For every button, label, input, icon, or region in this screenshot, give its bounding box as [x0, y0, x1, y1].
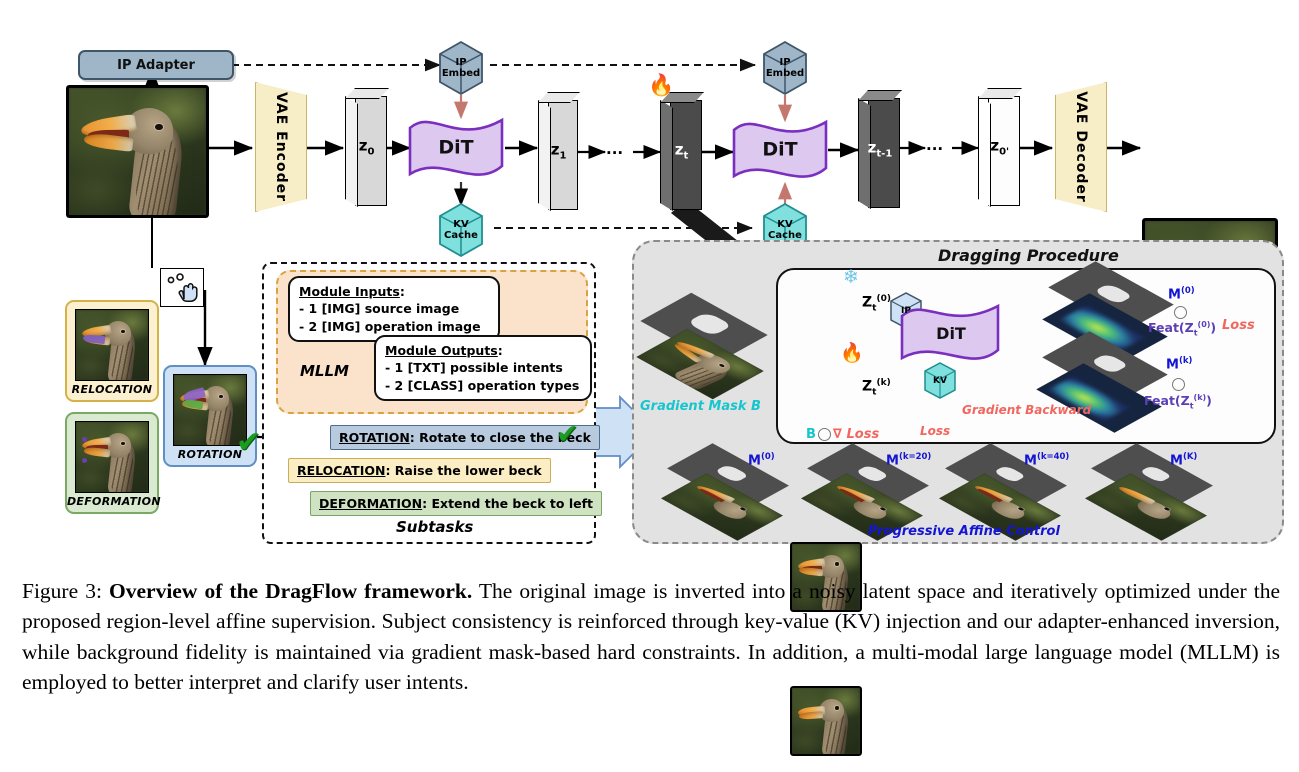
loss-legend: B∇ Loss: [806, 427, 879, 442]
variant-label-relocation: RELOCATION: [67, 383, 157, 396]
subtask-deformation-text: : Extend the beck to left: [422, 496, 593, 511]
subtask-relocation-key: RELOCATION: [297, 463, 385, 478]
module-outputs-box: Module Outputs: - 1 [TXT] possible inten…: [374, 335, 592, 401]
kv-cache-label-1: KVCache: [432, 219, 490, 241]
check-icon-rotation-card: ✔: [236, 428, 261, 458]
loss-label: Loss: [1222, 318, 1255, 333]
ip-embed-label-2: IPEmbed: [756, 57, 814, 79]
dit-block-2: DiT: [728, 114, 832, 186]
legend-circ-operator: [818, 428, 831, 441]
figure-caption: Figure 3: Overview of the DragFlow frame…: [22, 576, 1280, 697]
subtask-deformation[interactable]: DEFORMATION: Extend the beck to left: [310, 491, 602, 516]
feat-label-top: Feat(Zt(0)): [1148, 320, 1216, 338]
ip-embed-cube-2: IPEmbed: [756, 38, 814, 96]
latent-slab-z0: z0: [345, 88, 387, 206]
ip-adapter-box: IP Adapter: [78, 50, 234, 80]
loss-legend-grad: ∇ Loss: [833, 427, 879, 442]
flame-icon-optimized: 🔥: [840, 344, 864, 363]
module-inputs-box: Module Inputs: - 1 [IMG] source image - …: [288, 276, 500, 342]
module-inputs-title: Module Inputs:: [299, 283, 489, 300]
subtasks-label: Subtasks: [396, 518, 473, 536]
variant-card-deformation[interactable]: DEFORMATION: [65, 412, 159, 514]
timeline-stack-3: [1096, 452, 1226, 536]
ztk-label: Zt(k): [862, 378, 891, 397]
latent-slab-z0prime: z0': [978, 88, 1020, 206]
ip-adapter-label: IP Adapter: [117, 58, 195, 73]
latent-label-z0: z0: [359, 137, 375, 158]
ellipsis-1: ...: [606, 140, 623, 158]
timeline-label-1: M(k=20): [886, 452, 931, 468]
gradient-backward-label: Gradient Backward: [962, 403, 1091, 417]
dit-label-2: DiT: [728, 139, 832, 161]
kv-cube-dragging: KV: [920, 360, 960, 400]
mllm-name-label: MLLM: [300, 362, 349, 380]
mask-label-bottom: M(k): [1166, 356, 1192, 372]
loss-legend-b: B: [806, 427, 816, 442]
flame-icon-trainable: 🔥: [648, 75, 674, 96]
source-image: [66, 85, 209, 218]
timeline-label-0: M(0): [748, 452, 775, 468]
timeline-label-2: M(k=40): [1024, 452, 1069, 468]
latent-slab-zt-1: zt-1: [858, 90, 900, 208]
vae-encoder-label: VAE Encoder: [273, 92, 289, 202]
kv-cache-cube-1: KVCache: [432, 200, 490, 258]
mask-label-top: M(0): [1168, 286, 1195, 302]
subtask-deformation-key: DEFORMATION: [319, 496, 422, 511]
kv-cache-label-2: KVCache: [756, 219, 814, 241]
ip-embed-cube-1: IPEmbed: [432, 38, 490, 96]
kv-cube-label: KV: [920, 376, 960, 386]
gradient-mask-stack: [648, 300, 778, 396]
vae-decoder-label: VAE Decoder: [1073, 91, 1089, 203]
dit-block-1: DiT: [404, 112, 508, 184]
variant-card-relocation[interactable]: RELOCATION: [65, 300, 159, 402]
progressive-affine-control-label: Progressive Affine Control: [868, 524, 1060, 539]
module-inputs-item-1: - 1 [IMG] source image: [299, 300, 489, 317]
vae-encoder-block: VAE Encoder: [255, 82, 307, 212]
subtask-relocation[interactable]: RELOCATION: Raise the lower beck: [288, 458, 551, 483]
module-outputs-title: Module Outputs:: [385, 342, 581, 359]
timeline-stack-0: [672, 452, 802, 536]
module-inputs-item-2: - 2 [IMG] operation image: [299, 318, 489, 335]
snowflake-icon-frozen: ❄: [843, 268, 859, 287]
vae-decoder-block: VAE Decoder: [1055, 82, 1107, 212]
loss-label-lower: Loss: [920, 424, 950, 438]
timeline-label-3: M(K): [1170, 452, 1197, 468]
dit-label-1: DiT: [404, 137, 508, 159]
module-outputs-item-2: - 2 [CLASS] operation types: [385, 377, 581, 394]
circ-operator-bottom: [1172, 378, 1185, 391]
dit-label-dragging: DiT: [898, 324, 1004, 343]
gradient-mask-label: Gradient Mask B: [640, 399, 761, 414]
check-icon-subtask-rotation: ✔: [556, 421, 579, 448]
latent-label-z0prime: z0': [990, 137, 1009, 158]
ip-cube-label: IP: [886, 306, 926, 316]
figure-diagram: IP Adapter VAE Encoder z0 DiT IPEmbed: [0, 0, 1299, 560]
subtask-rotation-key: ROTATION: [339, 430, 410, 445]
latent-label-zt-1: zt-1: [868, 139, 893, 160]
ellipsis-2: ...: [926, 136, 943, 154]
latent-slab-z1: z1: [538, 92, 578, 210]
subtask-relocation-text: : Raise the lower beck: [385, 463, 541, 478]
feat-label-bottom: Feat(Zt(k)): [1144, 393, 1212, 411]
variant-label-deformation: DEFORMATION: [67, 495, 157, 508]
caption-prefix: Figure 3:: [22, 579, 102, 603]
caption-bold: Overview of the DragFlow framework.: [109, 579, 472, 603]
drag-gesture-icon: [160, 268, 204, 307]
latent-label-zt: zt: [675, 141, 689, 162]
latent-label-z1: z1: [551, 141, 567, 162]
circ-operator-top: [1174, 306, 1187, 319]
module-outputs-item-1: - 1 [TXT] possible intents: [385, 359, 581, 376]
ip-embed-label-1: IPEmbed: [432, 57, 490, 79]
latent-slab-zt: zt: [660, 92, 702, 210]
